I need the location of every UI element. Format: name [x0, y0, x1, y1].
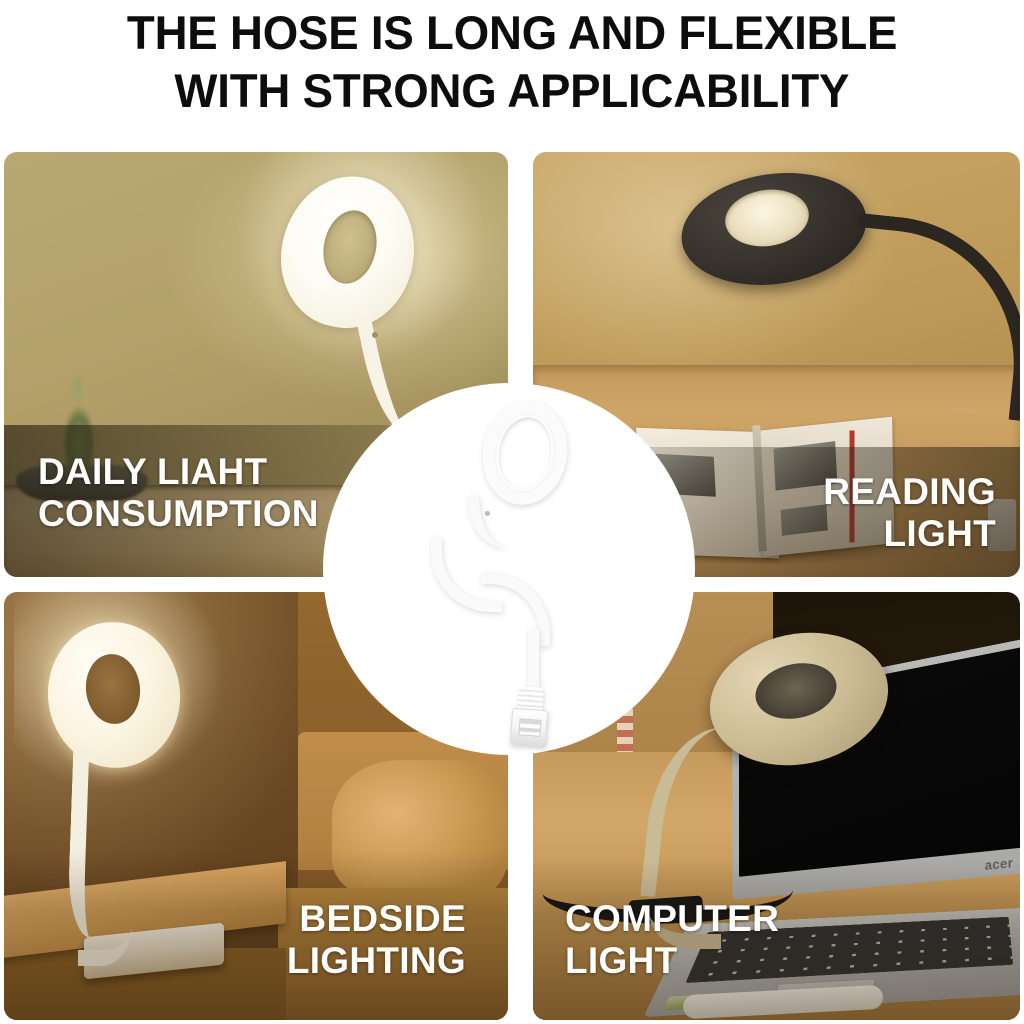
acer-logo: acer — [985, 854, 1014, 872]
product-usb-gooseneck-ring-lamp — [419, 401, 629, 741]
headline-line-1: THE HOSE IS LONG AND FLEXIBLE — [127, 4, 897, 62]
gooseneck-tail — [528, 629, 555, 691]
caption-computer-light: COMPUTER LIGHT — [565, 898, 779, 982]
ring-lamp-white-on — [276, 168, 456, 398]
ring-lamp-black-on — [681, 164, 1020, 394]
product-hero-circle[interactable] — [323, 383, 695, 755]
lamp-gooseneck — [640, 721, 771, 908]
ring-lamp-white-on — [48, 614, 208, 944]
power-button-icon — [485, 511, 490, 516]
caption-reading-light: READING LIGHT — [823, 471, 996, 555]
caption-bedside-lighting: BEDSIDE LIGHTING — [287, 898, 466, 982]
headline-line-2: WITH STRONG APPLICABILITY — [175, 62, 850, 120]
lamp-gooseneck — [840, 213, 1020, 421]
bed-pillow — [332, 760, 508, 902]
usb-plug-icon — [510, 708, 548, 746]
power-button-icon — [372, 332, 378, 338]
headline-block: THE HOSE IS LONG AND FLEXIBLE WITH STRON… — [0, 0, 1024, 140]
caption-daily-light-consumption: DAILY LIAHT CONSUMPTION — [38, 451, 319, 535]
